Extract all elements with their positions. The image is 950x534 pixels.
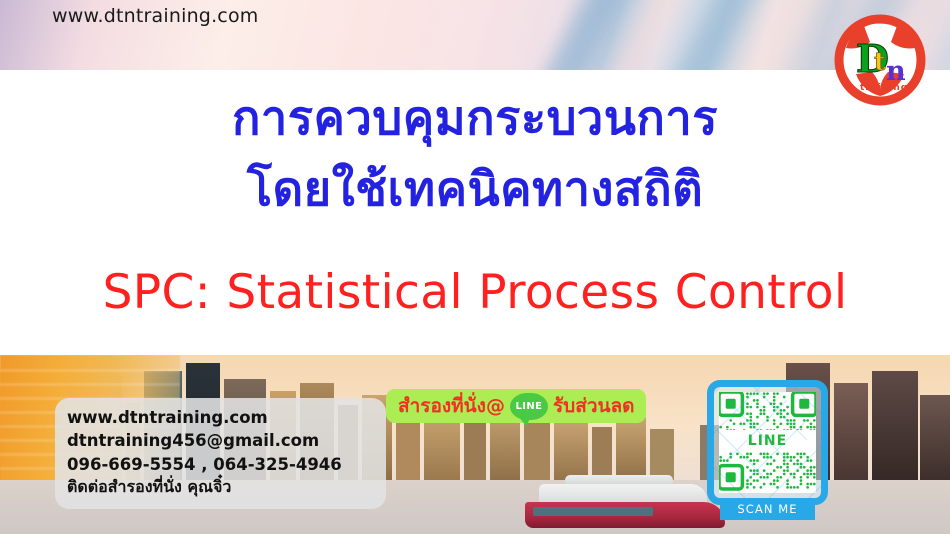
contact-info-box: www.dtntraining.com dtntraining456@gmail… bbox=[55, 398, 386, 509]
river-boat bbox=[525, 472, 725, 528]
thai-title-line-2: โดยใช้เทคนิคทางสถิติ bbox=[0, 166, 950, 215]
dtn-training-logo[interactable]: D t n training bbox=[834, 14, 926, 106]
line-icon-label: LINE bbox=[516, 401, 543, 412]
thai-title-line-1: การควบคุมกระบวนการ bbox=[0, 95, 950, 144]
line-banner-text-before: สำรองที่นั่ง@ bbox=[398, 391, 505, 421]
site-url-text: www.dtntraining.com bbox=[52, 5, 259, 27]
poster-root: www.dtntraining.com D t n training การคว… bbox=[0, 0, 950, 534]
line-banner-text-after: รับส่วนลด bbox=[553, 391, 635, 421]
svg-text:t: t bbox=[874, 47, 886, 76]
line-qr-code[interactable]: LINE SCAN ME bbox=[707, 380, 828, 523]
title-area: การควบคุมกระบวนการ โดยใช้เทคนิคทางสถิติ … bbox=[0, 70, 950, 355]
contact-website[interactable]: www.dtntraining.com bbox=[67, 406, 374, 429]
contact-phones[interactable]: 096-669-5554 , 064-325-4946 bbox=[67, 453, 374, 476]
english-subtitle: SPC: Statistical Process Control bbox=[0, 265, 950, 320]
contact-thai-note: ติดต่อสำรองที่นั่ง คุณจิ๋ว bbox=[67, 476, 374, 499]
contact-email[interactable]: dtntraining456@gmail.com bbox=[67, 429, 374, 452]
svg-text:training: training bbox=[860, 83, 908, 93]
qr-diagonal-pattern bbox=[707, 380, 828, 523]
line-booking-banner[interactable]: สำรองที่นั่ง@ LINE รับส่วนลด bbox=[386, 389, 646, 423]
line-chat-icon: LINE bbox=[510, 393, 548, 420]
